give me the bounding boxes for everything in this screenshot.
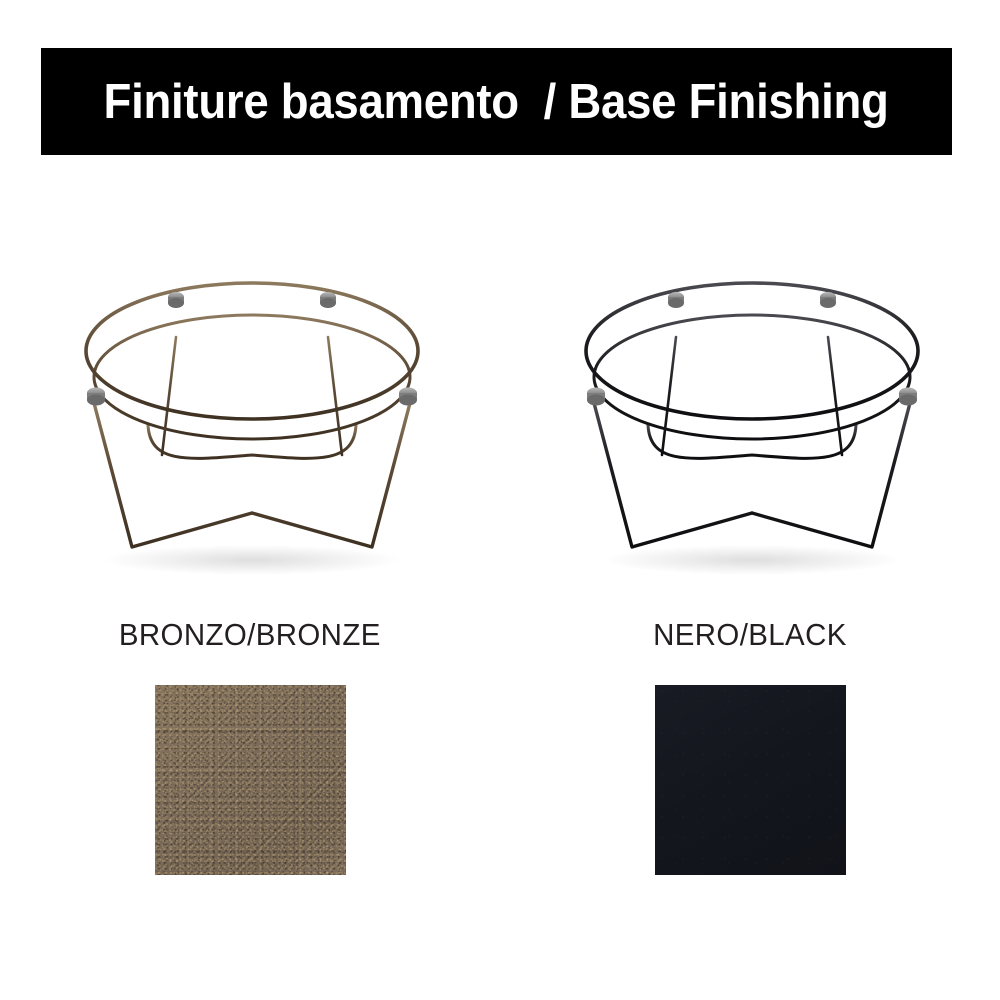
connector-bolts	[587, 292, 917, 406]
color-swatch-bronzo[interactable]	[155, 685, 346, 875]
finish-option-nero[interactable]: NERO/BLACK	[500, 255, 1000, 915]
page-title: Finiture basamento / Base Finishing	[104, 74, 889, 130]
finish-options: BRONZO/BRONZE	[0, 255, 1000, 915]
finish-label-nero: NERO/BLACK	[653, 617, 847, 653]
color-swatch-nero[interactable]	[655, 685, 846, 875]
product-finish-sheet: Finiture basamento / Base Finishing	[0, 0, 1000, 1000]
connector-bolts	[87, 292, 417, 406]
finish-label-bronzo: BRONZO/BRONZE	[119, 617, 381, 653]
header-banner: Finiture basamento / Base Finishing	[41, 48, 952, 155]
product-image-bronzo	[30, 255, 470, 585]
finish-option-bronzo[interactable]: BRONZO/BRONZE	[0, 255, 500, 915]
product-image-nero	[530, 255, 970, 585]
